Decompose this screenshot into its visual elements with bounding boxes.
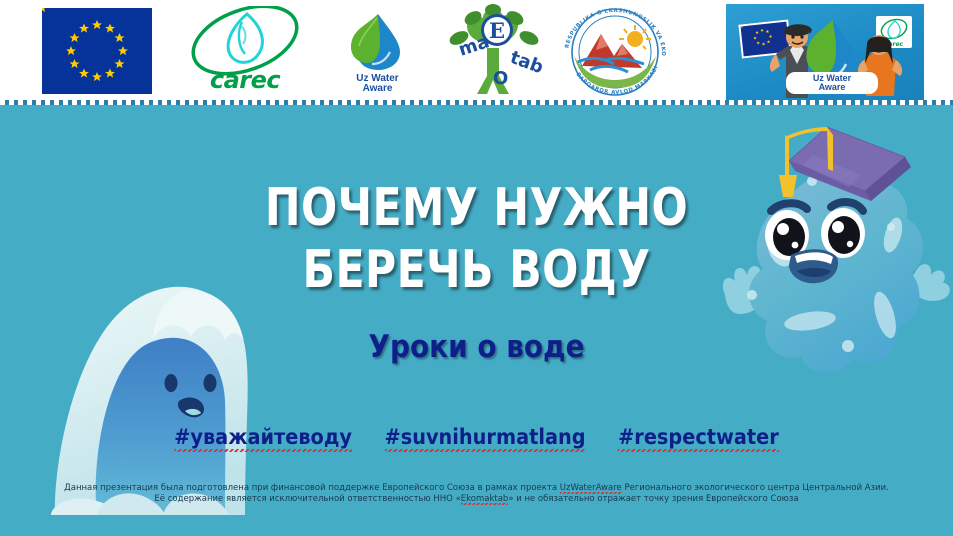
page-subtitle: Уроки о воде	[48, 329, 906, 365]
funding-disclaimer: Данная презентация была подготовлена при…	[60, 483, 893, 505]
svg-text:tab: tab	[507, 47, 543, 78]
hashtag-uz: #suvnihurmatlang	[385, 425, 586, 449]
disclaimer-part-3: » и не обязательно отражает точку зрения…	[508, 494, 798, 504]
disclaimer-link-uzwateraware: UzWaterAware	[560, 483, 622, 493]
banner-label-line2: Aware	[786, 83, 878, 92]
ministry-seal-logo: RESPUBLIKA O'LKASHUNOSLIK VA EKOLOGIYA B…	[556, 6, 674, 96]
page-title: ПОЧЕМУ НУЖНО БЕРЕЧЬ ВОДУ	[86, 177, 867, 301]
uzwa-line2: Aware	[330, 84, 425, 94]
ecology-seal-icon: RESPUBLIKA O'LKASHUNOSLIK VA EKOLOGIYA B…	[556, 6, 674, 96]
disclaimer-part-1: Данная презентация была подготовлена при…	[64, 483, 560, 493]
carec-wordmark: carec	[185, 66, 305, 94]
uzwateraware-wordmark: Uz Water Aware	[330, 74, 425, 94]
uzwateraware-banner: carec	[726, 4, 924, 100]
disclaimer-link-ekomaktab: Ekomaktab	[461, 494, 509, 504]
carec-logo: carec	[185, 6, 305, 96]
uzwateraware-logo: Uz Water Aware	[330, 8, 425, 96]
title-line-1: ПОЧЕМУ НУЖНО	[86, 177, 867, 239]
eu-flag-icon	[42, 8, 152, 94]
eu-stars-icon	[42, 8, 152, 94]
logo-header: carec Uz Water Aware	[0, 0, 953, 100]
hashtag-ru: #уважайтеводу	[174, 425, 352, 449]
slide-body: ПОЧЕМУ НУЖНО БЕРЕЧЬ ВОДУ Уроки о воде #у…	[0, 105, 953, 536]
presentation-slide: carec Uz Water Aware	[0, 0, 953, 536]
ekomaktab-logo: E ma k O tab	[443, 4, 543, 98]
svg-text:O: O	[493, 68, 508, 89]
leaf-drop-icon	[330, 8, 425, 72]
hashtag-en: #respectwater	[618, 425, 779, 449]
banner-wordmark: Uz Water Aware	[786, 72, 878, 94]
title-line-2: БЕРЕЧЬ ВОДУ	[86, 239, 867, 301]
hashtag-row: #уважайтеводу #suvnihurmatlang #respectw…	[38, 425, 915, 449]
tree-icon: E ma k O tab	[443, 4, 543, 98]
svg-text:E: E	[489, 18, 505, 43]
